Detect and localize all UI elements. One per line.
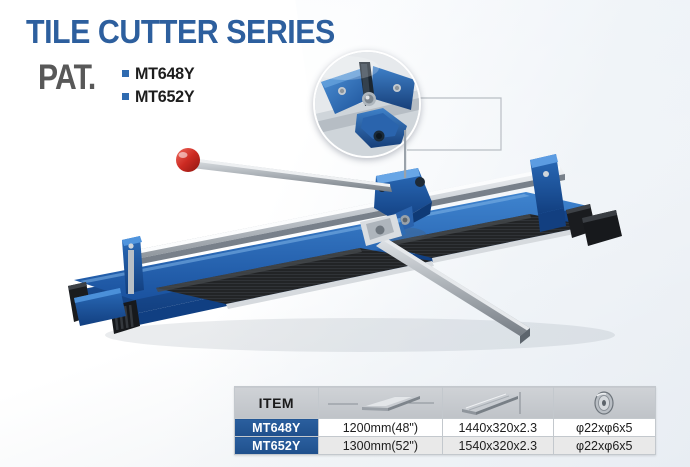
model-name: MT652Y — [135, 87, 194, 107]
tile-slab-icon — [322, 391, 438, 415]
cutting-wheel-icon — [556, 390, 652, 416]
row-base-size: 1440x320x2.3 — [443, 419, 553, 437]
table-row: MT652Y 1300mm(52") 1540x320x2.3 φ22xφ6x5 — [235, 437, 656, 455]
square-bullet-icon — [122, 70, 129, 77]
list-item: MT652Y — [122, 85, 197, 108]
row-wheel-spec: φ22xφ6x5 — [553, 437, 656, 455]
list-item: MT648Y — [122, 62, 197, 85]
spec-table: ITEM — [234, 386, 656, 455]
page-title: TILE CUTTER SERIES — [26, 15, 335, 49]
model-name: MT648Y — [135, 64, 194, 84]
row-item-model: MT652Y — [235, 437, 319, 455]
catalog-page: TILE CUTTER SERIES PAT. MT648Y MT652Y — [0, 0, 690, 467]
table-header-row: ITEM — [235, 387, 656, 419]
patent-label: PAT. — [38, 60, 95, 96]
square-bullet-icon — [122, 93, 129, 100]
table-row: MT648Y 1200mm(48") 1440x320x2.3 φ22xφ6x5 — [235, 419, 656, 437]
row-base-size: 1540x320x2.3 — [443, 437, 553, 455]
column-header-base-size — [443, 387, 553, 419]
row-cutting-length: 1300mm(52") — [318, 437, 442, 455]
column-header-item: ITEM — [235, 387, 319, 419]
column-header-cutting-length — [318, 387, 442, 419]
tile-cutter-photo — [60, 130, 660, 370]
model-list: MT648Y MT652Y — [122, 62, 197, 108]
row-cutting-length: 1200mm(48") — [318, 419, 442, 437]
rail-bar-icon — [446, 390, 550, 416]
row-item-model: MT648Y — [235, 419, 319, 437]
column-header-wheel-spec — [553, 387, 656, 419]
row-wheel-spec: φ22xφ6x5 — [553, 419, 656, 437]
